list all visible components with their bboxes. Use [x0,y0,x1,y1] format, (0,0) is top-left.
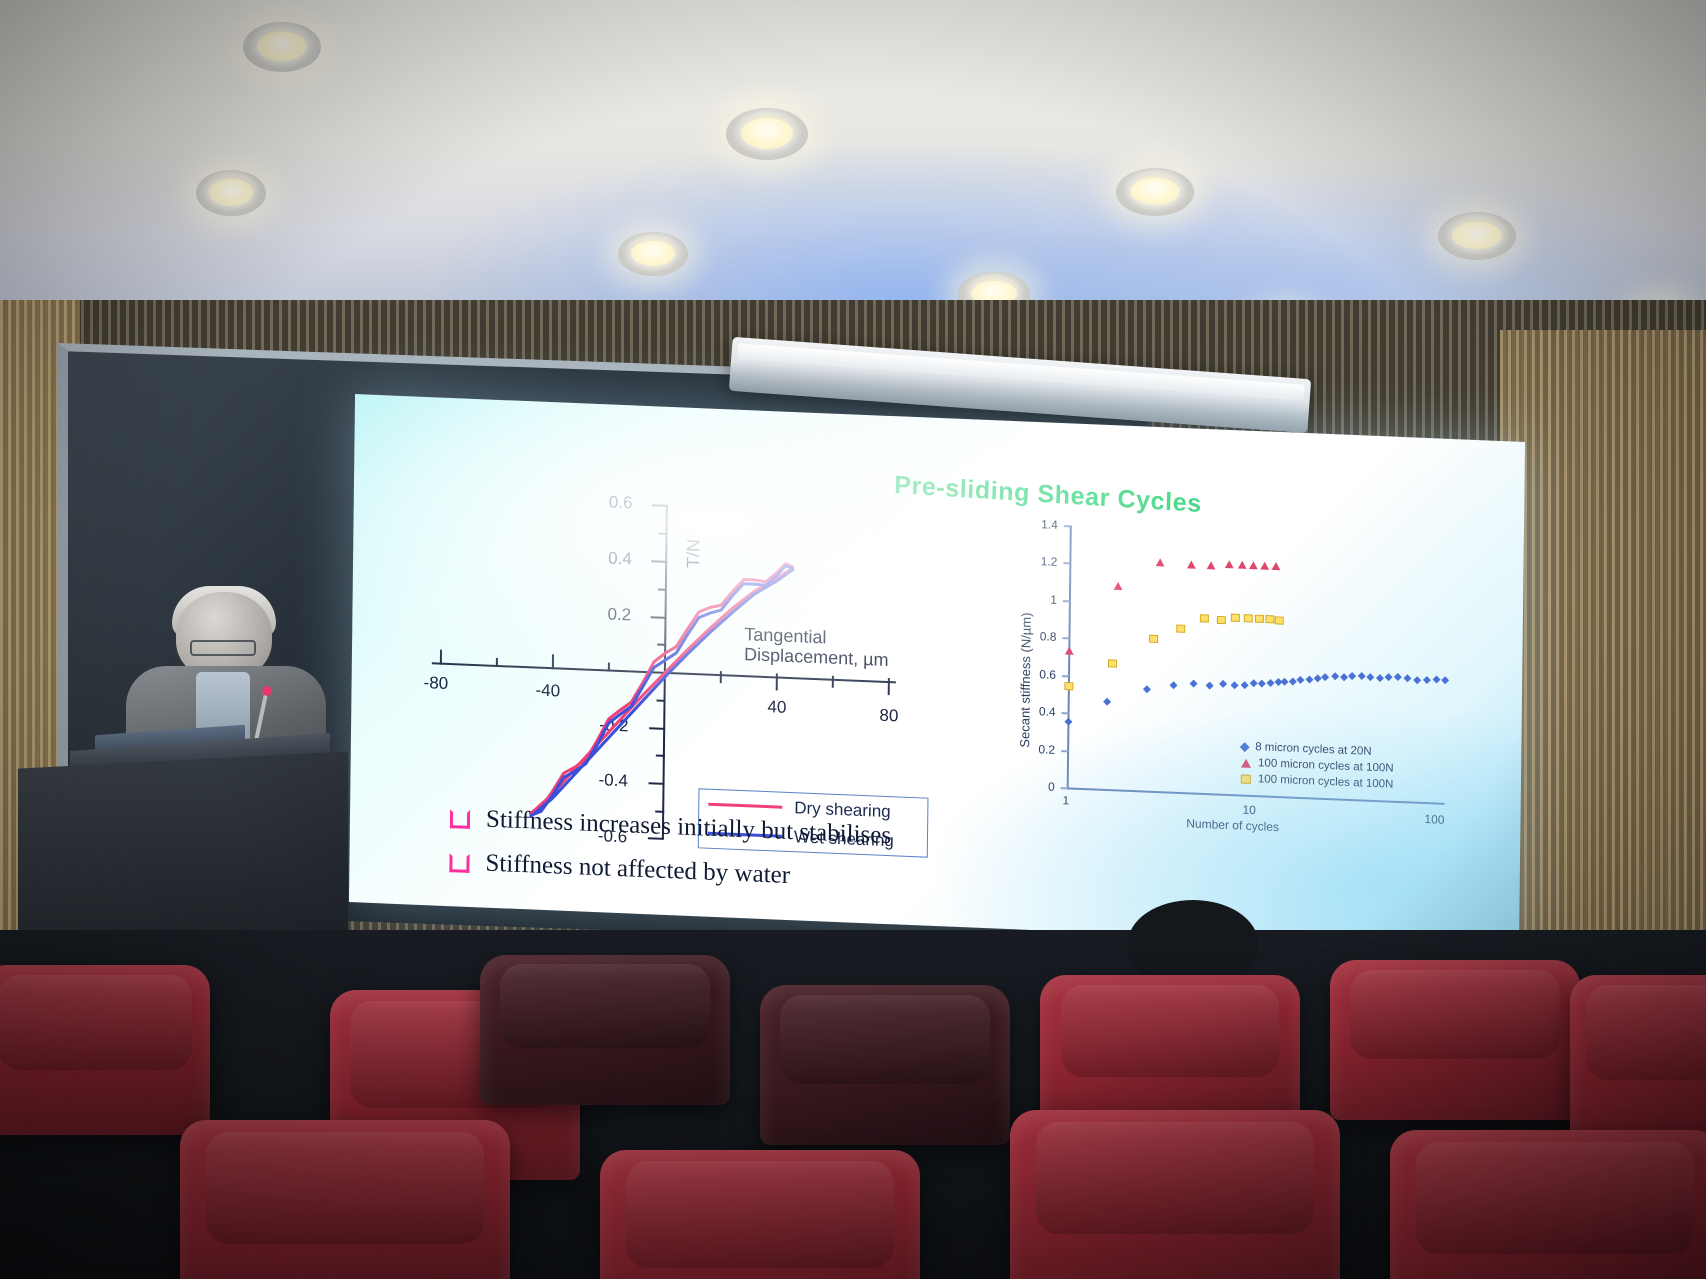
data-point [1413,676,1421,684]
data-point [1190,679,1198,687]
right-chart-plot [1010,517,1474,856]
data-point [1187,560,1196,568]
series-wet-shearing [530,558,794,828]
slide-bullet-list: Stiffness increases initially but stabil… [449,804,1090,918]
data-point [1250,679,1258,687]
microphone-head-icon [262,686,272,696]
data-point [1103,698,1111,706]
data-point [1206,681,1214,689]
data-point [1219,680,1227,688]
data-point [1169,681,1177,689]
data-point [1064,718,1072,726]
data-point [1376,674,1384,682]
data-point [1207,561,1216,569]
data-point [1114,582,1123,590]
auditorium-seat [180,1120,510,1279]
ceiling-downlight [618,232,688,276]
data-point [1244,615,1252,622]
ceiling-downlight [726,108,808,160]
data-point [1143,685,1151,693]
series-dry-shearing [530,557,794,825]
auditorium-seat [1010,1110,1340,1279]
auditorium-seat [1390,1130,1706,1279]
data-point [1272,562,1281,570]
data-point [1225,560,1234,568]
data-point [1065,682,1073,689]
auditorium-seat [1330,960,1580,1120]
bullet-square-icon [450,809,470,829]
data-point [1241,681,1249,689]
ceiling-downlight [1116,168,1194,216]
data-point [1150,635,1158,642]
data-point [1403,674,1411,682]
data-point [1348,672,1356,680]
auditorium-seat [600,1150,920,1279]
data-point [1340,673,1348,681]
legend-swatch-dry [708,803,782,809]
data-point [1231,614,1239,621]
audience-head-silhouette [1128,900,1258,986]
data-point [1305,675,1313,683]
right-chart-legend: 8 micron cycles at 20N 100 micron cycles… [1241,739,1394,793]
data-point [1331,672,1339,680]
data-point [1394,673,1402,681]
speaker-glasses [190,640,256,656]
auditorium-seat [760,985,1010,1145]
data-point [1260,561,1269,569]
data-point [1200,615,1208,622]
ceiling-downlight [196,170,266,216]
data-point [1366,673,1374,681]
data-point [1217,616,1225,623]
auditorium-seat [480,955,730,1105]
data-point [1314,674,1322,682]
data-point [1065,646,1074,654]
data-point [1249,561,1258,569]
data-point [1266,616,1274,623]
legend-marker-diamond-icon [1240,742,1250,752]
lecture-hall-photo: Pre-sliding Shear Cycles [0,0,1706,1279]
ceiling-downlight [243,22,321,72]
right-chart: Secant stiffness (N/µm) Number of cycles… [1010,517,1474,856]
data-point [1358,672,1366,680]
legend-marker-square-icon [1241,774,1251,783]
data-point [1255,615,1263,622]
auditorium-seat [0,965,210,1135]
bullet-square-icon [449,853,469,873]
data-point [1156,558,1165,566]
data-point [1423,676,1431,684]
data-point [1238,561,1247,569]
data-point [1433,675,1441,683]
projection-screen: Pre-sliding Shear Cycles [349,394,1525,950]
auditorium-seat [1570,975,1706,1145]
data-point [1441,676,1449,684]
data-point [1266,679,1274,687]
data-point [1108,660,1116,667]
data-point [1275,617,1283,624]
data-point [1289,677,1297,685]
data-point [1280,678,1288,686]
data-point [1296,676,1304,684]
data-point [1177,625,1185,632]
data-point [1385,673,1393,681]
data-point [1231,681,1239,689]
bullet-text: Stiffness not affected by water [485,850,790,890]
wall-panel-right [1500,330,1706,950]
bullet-row: Stiffness not affected by water [449,848,1089,902]
data-point [1258,679,1266,687]
legend-marker-triangle-icon [1241,758,1251,767]
ceiling-downlight [1438,212,1516,260]
data-point [1321,673,1329,681]
